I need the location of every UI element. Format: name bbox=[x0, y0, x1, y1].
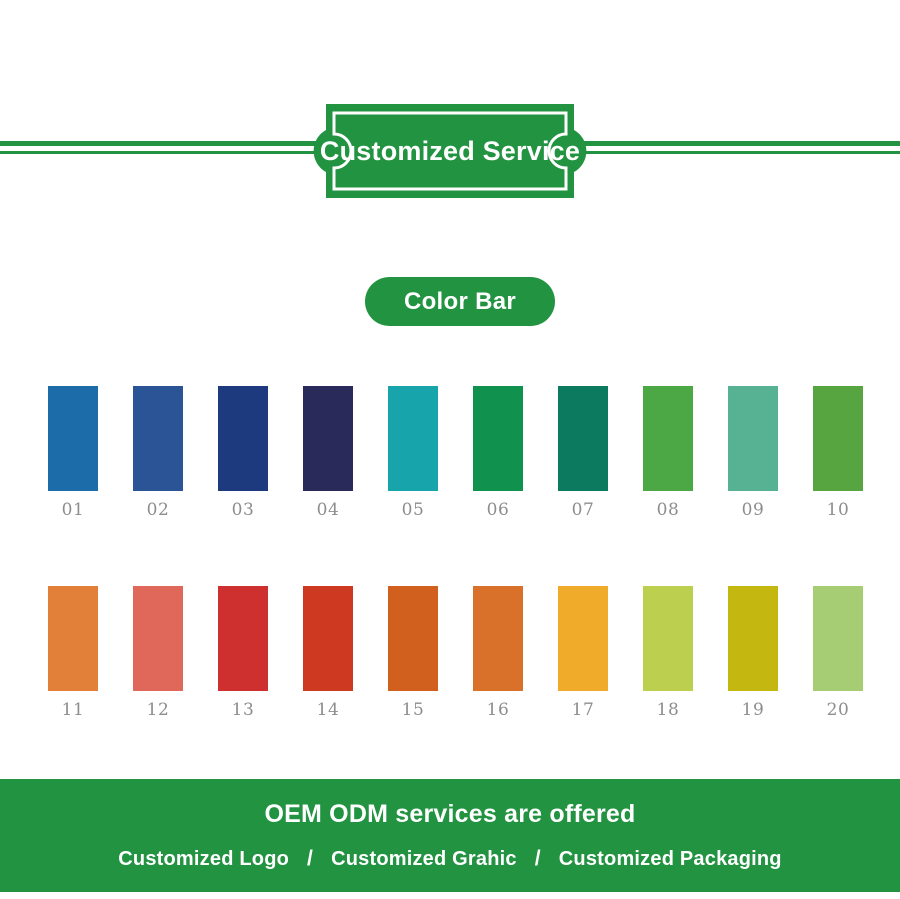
swatch-label: 15 bbox=[402, 702, 425, 719]
swatch-item[interactable]: 10 bbox=[813, 386, 863, 519]
swatch-label: 20 bbox=[827, 702, 850, 719]
swatch-label: 05 bbox=[402, 502, 425, 519]
swatch-chip[interactable] bbox=[473, 586, 523, 691]
swatch-label: 16 bbox=[487, 702, 510, 719]
swatch-chip[interactable] bbox=[643, 586, 693, 691]
header-banner bbox=[0, 96, 900, 206]
swatch-item[interactable]: 02 bbox=[133, 386, 183, 519]
swatch-chip[interactable] bbox=[643, 386, 693, 491]
swatch-chip[interactable] bbox=[48, 386, 98, 491]
swatch-item[interactable]: 12 bbox=[133, 586, 183, 719]
swatch-label: 11 bbox=[62, 702, 85, 719]
swatch-item[interactable]: 15 bbox=[388, 586, 438, 719]
swatch-chip[interactable] bbox=[303, 386, 353, 491]
footer-service-logo: Customized Logo bbox=[118, 848, 289, 871]
swatch-label: 07 bbox=[572, 502, 595, 519]
swatch-item[interactable]: 20 bbox=[813, 586, 863, 719]
swatch-grid-row-two: 11 12 13 14 15 16 17 18 bbox=[48, 586, 870, 719]
swatch-item[interactable]: 08 bbox=[643, 386, 693, 519]
swatch-label: 12 bbox=[147, 702, 170, 719]
swatch-label: 09 bbox=[742, 502, 765, 519]
swatch-item[interactable]: 07 bbox=[558, 386, 608, 519]
swatch-item[interactable]: 01 bbox=[48, 386, 98, 519]
swatch-label: 06 bbox=[487, 502, 510, 519]
swatch-chip[interactable] bbox=[728, 386, 778, 491]
swatch-label: 18 bbox=[657, 702, 680, 719]
swatch-item[interactable]: 09 bbox=[728, 386, 778, 519]
color-bar-pill: Color Bar bbox=[365, 277, 555, 326]
swatch-label: 02 bbox=[147, 502, 170, 519]
swatch-item[interactable]: 16 bbox=[473, 586, 523, 719]
swatch-row: 11 12 13 14 15 16 17 18 bbox=[48, 586, 870, 719]
footer-headline: OEM ODM services are offered bbox=[264, 800, 635, 829]
swatch-chip[interactable] bbox=[728, 586, 778, 691]
swatch-label: 01 bbox=[62, 502, 85, 519]
swatch-chip[interactable] bbox=[218, 586, 268, 691]
color-bar-pill-label: Color Bar bbox=[404, 288, 516, 316]
header-rule-right-thick bbox=[565, 141, 900, 146]
swatch-chip[interactable] bbox=[218, 386, 268, 491]
footer-separator: / bbox=[535, 847, 541, 871]
swatch-chip[interactable] bbox=[303, 586, 353, 691]
swatch-chip[interactable] bbox=[388, 586, 438, 691]
swatch-grid-row-one: 01 02 03 04 05 06 07 08 bbox=[48, 386, 870, 519]
footer-banner: OEM ODM services are offered Customized … bbox=[0, 779, 900, 892]
swatch-label: 19 bbox=[742, 702, 765, 719]
swatch-item[interactable]: 04 bbox=[303, 386, 353, 519]
swatch-row: 01 02 03 04 05 06 07 08 bbox=[48, 386, 870, 519]
swatch-chip[interactable] bbox=[388, 386, 438, 491]
swatch-label: 04 bbox=[317, 502, 340, 519]
header-plaque bbox=[314, 104, 587, 198]
swatch-item[interactable]: 19 bbox=[728, 586, 778, 719]
footer-separator: / bbox=[307, 847, 313, 871]
header-rule-left-thin bbox=[0, 151, 335, 154]
swatch-item[interactable]: 11 bbox=[48, 586, 98, 719]
swatch-chip[interactable] bbox=[558, 386, 608, 491]
swatch-label: 17 bbox=[572, 702, 595, 719]
footer-services-list: Customized Logo / Customized Grahic / Cu… bbox=[118, 847, 781, 871]
swatch-chip[interactable] bbox=[813, 386, 863, 491]
swatch-item[interactable]: 05 bbox=[388, 386, 438, 519]
header-rule-right-thin bbox=[565, 151, 900, 154]
swatch-chip[interactable] bbox=[133, 586, 183, 691]
swatch-chip[interactable] bbox=[813, 586, 863, 691]
header-rule-left-thick bbox=[0, 141, 335, 146]
swatch-item[interactable]: 14 bbox=[303, 586, 353, 719]
header-banner-graphic bbox=[0, 96, 900, 206]
swatch-label: 13 bbox=[232, 702, 255, 719]
swatch-chip[interactable] bbox=[473, 386, 523, 491]
swatch-label: 14 bbox=[317, 702, 340, 719]
swatch-item[interactable]: 06 bbox=[473, 386, 523, 519]
swatch-chip[interactable] bbox=[133, 386, 183, 491]
swatch-item[interactable]: 18 bbox=[643, 586, 693, 719]
swatch-label: 10 bbox=[827, 502, 850, 519]
swatch-chip[interactable] bbox=[48, 586, 98, 691]
swatch-item[interactable]: 03 bbox=[218, 386, 268, 519]
header-plaque-fill bbox=[314, 104, 587, 198]
swatch-item[interactable]: 13 bbox=[218, 586, 268, 719]
footer-service-graphic: Customized Grahic bbox=[331, 848, 517, 871]
swatch-item[interactable]: 17 bbox=[558, 586, 608, 719]
footer-service-packaging: Customized Packaging bbox=[559, 848, 782, 871]
swatch-label: 08 bbox=[657, 502, 680, 519]
swatch-chip[interactable] bbox=[558, 586, 608, 691]
swatch-label: 03 bbox=[232, 502, 255, 519]
